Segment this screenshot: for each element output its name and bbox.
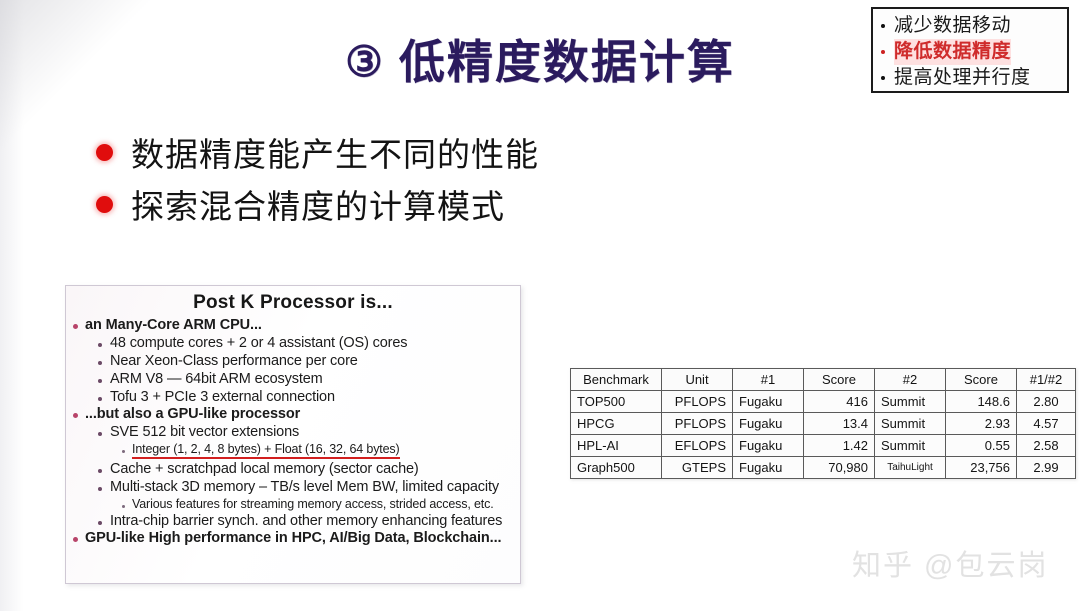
post-k-bullet-label: GPU-like High performance in HPC, AI/Big…: [85, 530, 501, 546]
table-cell: Summit: [875, 413, 946, 435]
bullet-dot-icon: [122, 505, 125, 508]
table-cell: 2.80: [1017, 391, 1076, 413]
table-cell: 1.42: [804, 435, 875, 457]
post-k-bullet-item: an Many-Core ARM CPU...: [66, 317, 520, 333]
post-k-bullet-item: ARM V8 — 64bit ARM ecosystem: [66, 371, 520, 387]
table-cell: 13.4: [804, 413, 875, 435]
table-column-header: #2: [875, 369, 946, 391]
table-cell: 70,980: [804, 457, 875, 479]
post-k-bullet-list: an Many-Core ARM CPU...48 compute cores …: [66, 317, 520, 546]
post-k-bullet-item: Tofu 3 + PCIe 3 external connection: [66, 389, 520, 405]
bullet-dot-icon: [73, 537, 78, 542]
table-cell: Fugaku: [733, 413, 804, 435]
bullet-dot-icon: [73, 413, 78, 418]
table-cell: Summit: [875, 391, 946, 413]
table-column-header: Score: [804, 369, 875, 391]
post-k-bullet-item: GPU-like High performance in HPC, AI/Big…: [66, 530, 520, 546]
table-cell: 148.6: [946, 391, 1017, 413]
post-k-bullet-label: ...but also a GPU-like processor: [85, 406, 300, 422]
bullet-dot-icon: [96, 144, 113, 161]
bullet-dot-icon: [98, 397, 102, 401]
table-row: HPCGPFLOPSFugaku13.4Summit2.934.57: [571, 413, 1076, 435]
table-column-header: #1/#2: [1017, 369, 1076, 391]
post-k-bullet-item: Near Xeon-Class performance per core: [66, 353, 520, 369]
table-cell: HPCG: [571, 413, 662, 435]
bullet-dot-icon: [122, 450, 125, 453]
main-bullet-item: 数据精度能产生不同的性能: [96, 126, 539, 178]
table-cell: PFLOPS: [662, 413, 733, 435]
page-title: ③低精度数据计算: [345, 26, 735, 92]
table-cell: Summit: [875, 435, 946, 457]
bullet-dot-icon: [98, 469, 102, 473]
table-cell: HPL-AI: [571, 435, 662, 457]
table-column-header: Unit: [662, 369, 733, 391]
benchmark-table: BenchmarkUnit#1Score#2Score#1/#2 TOP500P…: [570, 368, 1076, 479]
post-k-bullet-item: Integer (1, 2, 4, 8 bytes) + Float (16, …: [66, 442, 520, 459]
post-k-bullet-label: Integer (1, 2, 4, 8 bytes) + Float (16, …: [132, 442, 400, 459]
table-cell: 23,756: [946, 457, 1017, 479]
post-k-bullet-item: Intra-chip barrier synch. and other memo…: [66, 513, 520, 529]
post-k-bullet-label: 48 compute cores + 2 or 4 assistant (OS)…: [110, 335, 407, 351]
post-k-bullet-label: an Many-Core ARM CPU...: [85, 317, 262, 333]
table-cell: GTEPS: [662, 457, 733, 479]
table-cell: 0.55: [946, 435, 1017, 457]
post-k-panel-title: Post K Processor is...: [66, 292, 520, 314]
bullet-dot-icon: [98, 521, 102, 525]
post-k-bullet-label: Various features for streaming memory ac…: [132, 497, 494, 511]
table-cell: PFLOPS: [662, 391, 733, 413]
bullet-dot-icon: [73, 324, 78, 329]
page-title-wrap: ③低精度数据计算: [0, 26, 1080, 92]
table-cell: 416: [804, 391, 875, 413]
bullet-dot-icon: [98, 487, 102, 491]
bullet-dot-icon: [98, 361, 102, 365]
post-k-bullet-label: Intra-chip barrier synch. and other memo…: [110, 513, 502, 529]
table-row: Graph500GTEPSFugaku70,980TaihuLight23,75…: [571, 457, 1076, 479]
post-k-bullet-label: Tofu 3 + PCIe 3 external connection: [110, 389, 335, 405]
table-row: TOP500PFLOPSFugaku416Summit148.62.80: [571, 391, 1076, 413]
post-k-bullet-label: Near Xeon-Class performance per core: [110, 353, 358, 369]
bullet-dot-icon: [98, 343, 102, 347]
post-k-bullet-item: SVE 512 bit vector extensions: [66, 424, 520, 440]
benchmark-table-head: BenchmarkUnit#1Score#2Score#1/#2: [571, 369, 1076, 391]
title-number-badge: ③: [345, 38, 385, 85]
post-k-bullet-item: ...but also a GPU-like processor: [66, 406, 520, 422]
post-k-bullet-item: Various features for streaming memory ac…: [66, 497, 520, 511]
post-k-bullet-item: Cache + scratchpad local memory (sector …: [66, 461, 520, 477]
table-cell: Fugaku: [733, 435, 804, 457]
bullet-dot-icon: [98, 379, 102, 383]
table-cell: Fugaku: [733, 391, 804, 413]
table-cell: 2.58: [1017, 435, 1076, 457]
post-k-bullet-label: ARM V8 — 64bit ARM ecosystem: [110, 371, 323, 387]
benchmark-table-body: TOP500PFLOPSFugaku416Summit148.62.80HPCG…: [571, 391, 1076, 479]
main-bullet-label: 数据精度能产生不同的性能: [131, 128, 539, 176]
table-row: HPL-AIEFLOPSFugaku1.42Summit0.552.58: [571, 435, 1076, 457]
table-column-header: #1: [733, 369, 804, 391]
post-k-processor-panel: Post K Processor is... NOC: [65, 285, 521, 584]
post-k-bullet-label: Cache + scratchpad local memory (sector …: [110, 461, 419, 477]
table-cell: 4.57: [1017, 413, 1076, 435]
slide-canvas: 减少数据移动 降低数据精度 提高处理并行度 ③低精度数据计算 数据精度能产生不同…: [0, 0, 1080, 611]
watermark: 知乎 @包云岗: [852, 542, 1049, 584]
post-k-bullet-item: Multi-stack 3D memory – TB/s level Mem B…: [66, 479, 520, 495]
table-column-header: Score: [946, 369, 1017, 391]
main-bullet-list: 数据精度能产生不同的性能 探索混合精度的计算模式: [96, 126, 539, 230]
post-k-bullet-item: 48 compute cores + 2 or 4 assistant (OS)…: [66, 335, 520, 351]
table-column-header: Benchmark: [571, 369, 662, 391]
table-cell: 2.93: [946, 413, 1017, 435]
table-header-row: BenchmarkUnit#1Score#2Score#1/#2: [571, 369, 1076, 391]
post-k-bullet-label: Multi-stack 3D memory – TB/s level Mem B…: [110, 479, 499, 495]
table-cell: EFLOPS: [662, 435, 733, 457]
bullet-dot-icon: [96, 196, 113, 213]
title-text: 低精度数据计算: [399, 36, 735, 88]
post-k-bullet-label: SVE 512 bit vector extensions: [110, 424, 299, 440]
table-cell: TOP500: [571, 391, 662, 413]
table-cell: TaihuLight: [875, 457, 946, 479]
main-bullet-label: 探索混合精度的计算模式: [131, 180, 505, 228]
table-cell: Graph500: [571, 457, 662, 479]
bullet-dot-icon: [98, 432, 102, 436]
table-cell: Fugaku: [733, 457, 804, 479]
main-bullet-item: 探索混合精度的计算模式: [96, 178, 539, 230]
table-cell: 2.99: [1017, 457, 1076, 479]
